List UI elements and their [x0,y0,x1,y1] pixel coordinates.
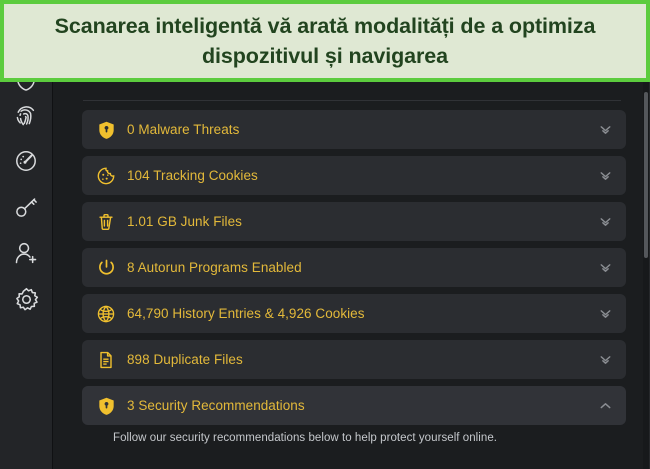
scan-results-list: 0 Malware Threats [82,110,626,454]
sidebar-rail [0,78,53,469]
result-row-label: 64,790 History Entries & 4,926 Cookies [127,306,596,321]
sidebar-item-fingerprint[interactable] [0,92,53,138]
app-window: 0 Malware Threats [0,78,650,469]
chevron-double-down-icon[interactable] [596,213,614,231]
chevron-double-down-icon[interactable] [596,351,614,369]
result-row-malware-threats[interactable]: 0 Malware Threats [82,110,626,149]
result-row-duplicate-files[interactable]: 898 Duplicate Files [82,340,626,379]
document-icon [96,350,116,370]
result-row-label: 1.01 GB Junk Files [127,214,596,229]
result-row-history-entries[interactable]: 64,790 History Entries & 4,926 Cookies [82,294,626,333]
globe-icon [96,304,116,324]
result-row-label: 0 Malware Threats [127,122,596,137]
annotation-banner: Scanarea inteligentă vă arată modalități… [0,0,650,82]
sidebar-item-performance[interactable] [0,138,53,184]
security-recommendations-note: Follow our security recommendations belo… [113,432,606,444]
result-row-junk-files[interactable]: 1.01 GB Junk Files [82,202,626,241]
result-row-label: 3 Security Recommendations [127,398,596,413]
scan-results-panel: 0 Malware Threats [53,78,643,469]
sidebar-item-passwords[interactable] [0,184,53,230]
sidebar-item-settings[interactable] [0,276,53,322]
result-row-label: 8 Autorun Programs Enabled [127,260,596,275]
annotation-banner-text: Scanarea inteligentă vă arată modalități… [4,11,646,71]
sidebar-item-identity[interactable] [0,230,53,276]
speedometer-icon [14,149,38,173]
gear-icon [14,287,39,312]
cookie-icon [96,166,116,186]
result-row-security-recommendations[interactable]: 3 Security Recommendations [82,386,626,425]
user-add-icon [14,241,39,266]
result-row-tracking-cookies[interactable]: 104 Tracking Cookies [82,156,626,195]
result-row-label: 898 Duplicate Files [127,352,596,367]
chevron-double-down-icon[interactable] [596,305,614,323]
chevron-double-down-icon[interactable] [596,259,614,277]
shield-icon [96,120,116,140]
chevron-double-up-icon[interactable] [596,397,614,415]
chevron-double-down-icon[interactable] [596,121,614,139]
trash-icon [96,212,116,232]
result-row-autorun-programs[interactable]: 8 Autorun Programs Enabled [82,248,626,287]
chevron-double-down-icon[interactable] [596,167,614,185]
vertical-scrollbar-thumb[interactable] [644,92,648,258]
result-row-label: 104 Tracking Cookies [127,168,596,183]
key-icon [14,195,39,220]
fingerprint-icon [14,103,38,127]
shield-icon [96,396,116,416]
panel-divider [83,100,621,101]
app-root: 0 Malware Threats [0,0,650,469]
power-icon [96,258,116,278]
